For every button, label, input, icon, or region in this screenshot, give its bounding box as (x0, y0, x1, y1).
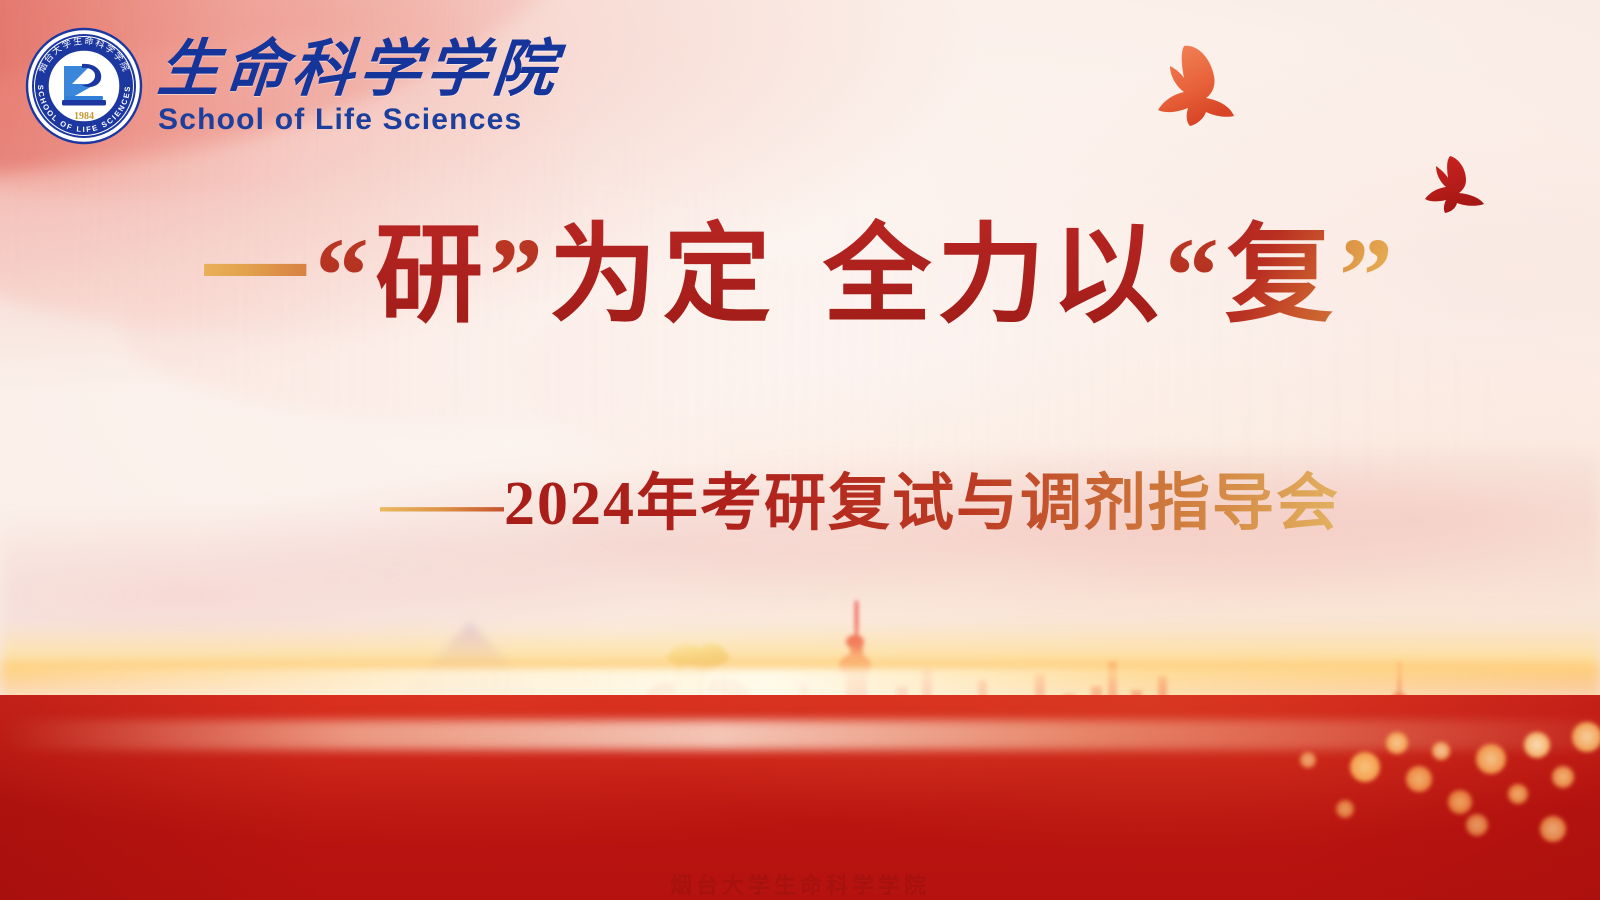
bokeh-light (1476, 744, 1506, 774)
title-quote-close-2: ” (1339, 218, 1399, 337)
horizon-glow (0, 622, 1600, 714)
svg-text:1984: 1984 (74, 111, 94, 122)
bokeh-light (1300, 752, 1316, 768)
title-char-fu: 复 (1225, 218, 1339, 337)
dove-large-icon (1148, 38, 1258, 143)
bokeh-light (1524, 732, 1550, 758)
bokeh-light (1572, 722, 1600, 752)
red-ground-band (0, 695, 1600, 900)
bokeh-light (1336, 800, 1354, 818)
horizon-light-streak (0, 668, 1600, 704)
poster-canvas: 烟台大学生命科学学院 SCHOOL OF LIFE SCIENCES 1984 … (0, 0, 1600, 900)
bokeh-light (1406, 766, 1432, 792)
title-words-weiding: 为定 (549, 218, 777, 337)
bottom-credit-text: 烟台大学生命科学学院 (0, 868, 1600, 900)
bokeh-light (1448, 790, 1472, 814)
wordmark-chinese: 生命科学学院 (155, 39, 563, 102)
title-quote-open-1: “ (315, 218, 375, 337)
school-logo-lockup: 烟台大学生命科学学院 SCHOOL OF LIFE SCIENCES 1984 … (24, 26, 560, 146)
school-of-life-sciences-emblem: 烟台大学生命科学学院 SCHOOL OF LIFE SCIENCES 1984 (24, 26, 144, 146)
ground-sheen-streak (0, 720, 1600, 750)
bokeh-light (1540, 816, 1566, 842)
wordmark-english: School of Life Sciences (158, 103, 560, 137)
bokeh-light (1386, 732, 1408, 754)
title-char-yan: 研 (375, 218, 489, 337)
bokeh-light (1552, 766, 1574, 788)
bokeh-light (1508, 784, 1528, 804)
subtitle-dash: —— (380, 470, 504, 538)
title-quote-open-2: “ (1165, 218, 1225, 337)
bokeh-light (1350, 752, 1380, 782)
school-wordmark: 生命科学学院 School of Life Sciences (158, 35, 560, 137)
title-words-quanliyi: 全力以 (823, 218, 1165, 337)
bokeh-light (1432, 742, 1450, 760)
page-title: 一“研”为定全力以“复” (0, 218, 1600, 337)
bokeh-light (1466, 814, 1488, 836)
title-char-yi: 一 (201, 218, 315, 337)
subtitle-text: 2024年考研复试与调剂指导会 (504, 470, 1340, 538)
dove-small-icon (1424, 152, 1496, 218)
page-subtitle: ——2024年考研复试与调剂指导会 (0, 452, 1600, 542)
title-quote-close-1: ” (489, 218, 549, 337)
